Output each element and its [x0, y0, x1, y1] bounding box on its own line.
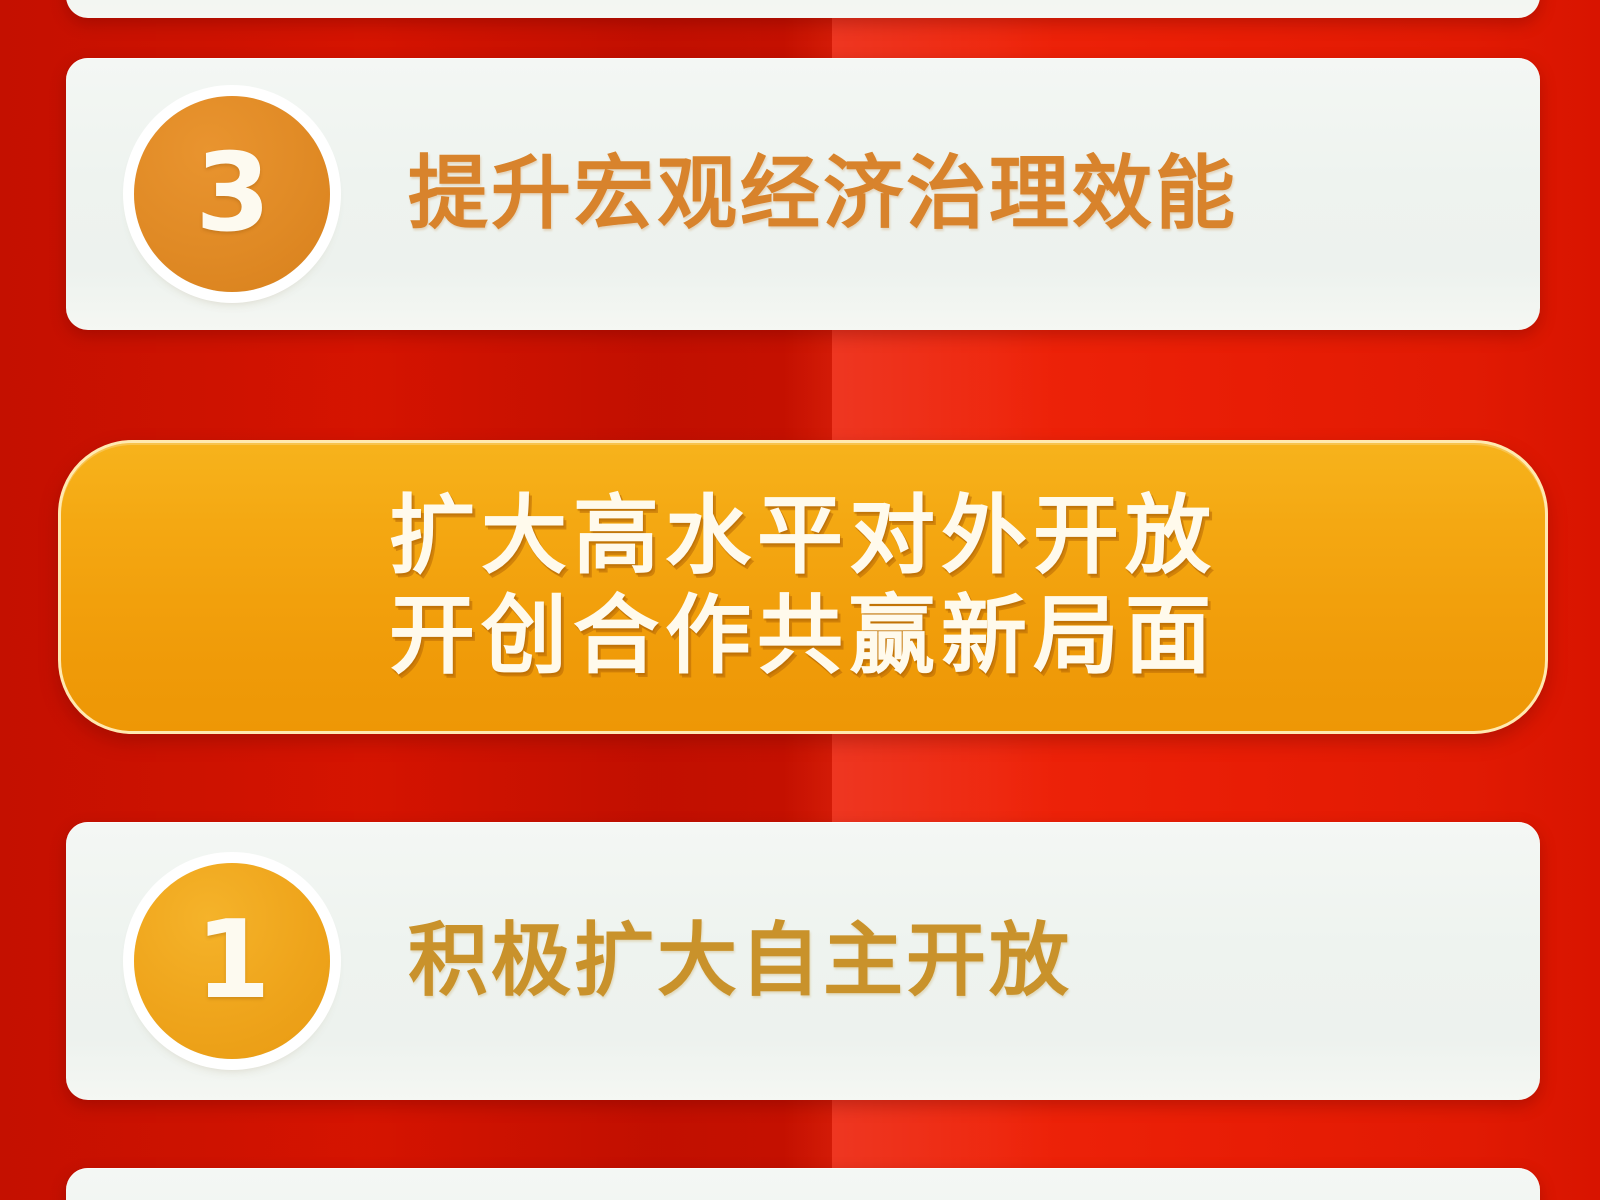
number-badge-3: 3	[134, 96, 330, 292]
slide-canvas: 3 提升宏观经济治理效能 扩大高水平对外开放 开创合作共赢新局面 1 积极扩大自…	[0, 0, 1600, 1200]
card-partial-below-inner	[66, 1168, 1540, 1200]
highlight-banner[interactable]: 扩大高水平对外开放 开创合作共赢新局面	[58, 440, 1548, 734]
list-item-card-3[interactable]: 3 提升宏观经济治理效能	[66, 58, 1540, 330]
card-partial-below[interactable]	[66, 1168, 1540, 1200]
card-partial-above-inner	[66, 0, 1540, 18]
card-1-title: 积极扩大自主开放	[408, 919, 1072, 1003]
card-3-content: 3 提升宏观经济治理效能	[66, 58, 1540, 330]
list-item-card-1[interactable]: 1 积极扩大自主开放	[66, 822, 1540, 1100]
banner-line-1: 扩大高水平对外开放	[389, 487, 1217, 587]
card-1-content: 1 积极扩大自主开放	[66, 822, 1540, 1100]
badge-number-label: 1	[195, 907, 268, 1015]
number-badge-1: 1	[134, 863, 330, 1059]
banner-line-2: 开创合作共赢新局面	[389, 587, 1217, 687]
card-partial-above[interactable]	[66, 0, 1540, 18]
card-3-title: 提升宏观经济治理效能	[408, 152, 1238, 236]
badge-number-label: 3	[195, 140, 268, 248]
